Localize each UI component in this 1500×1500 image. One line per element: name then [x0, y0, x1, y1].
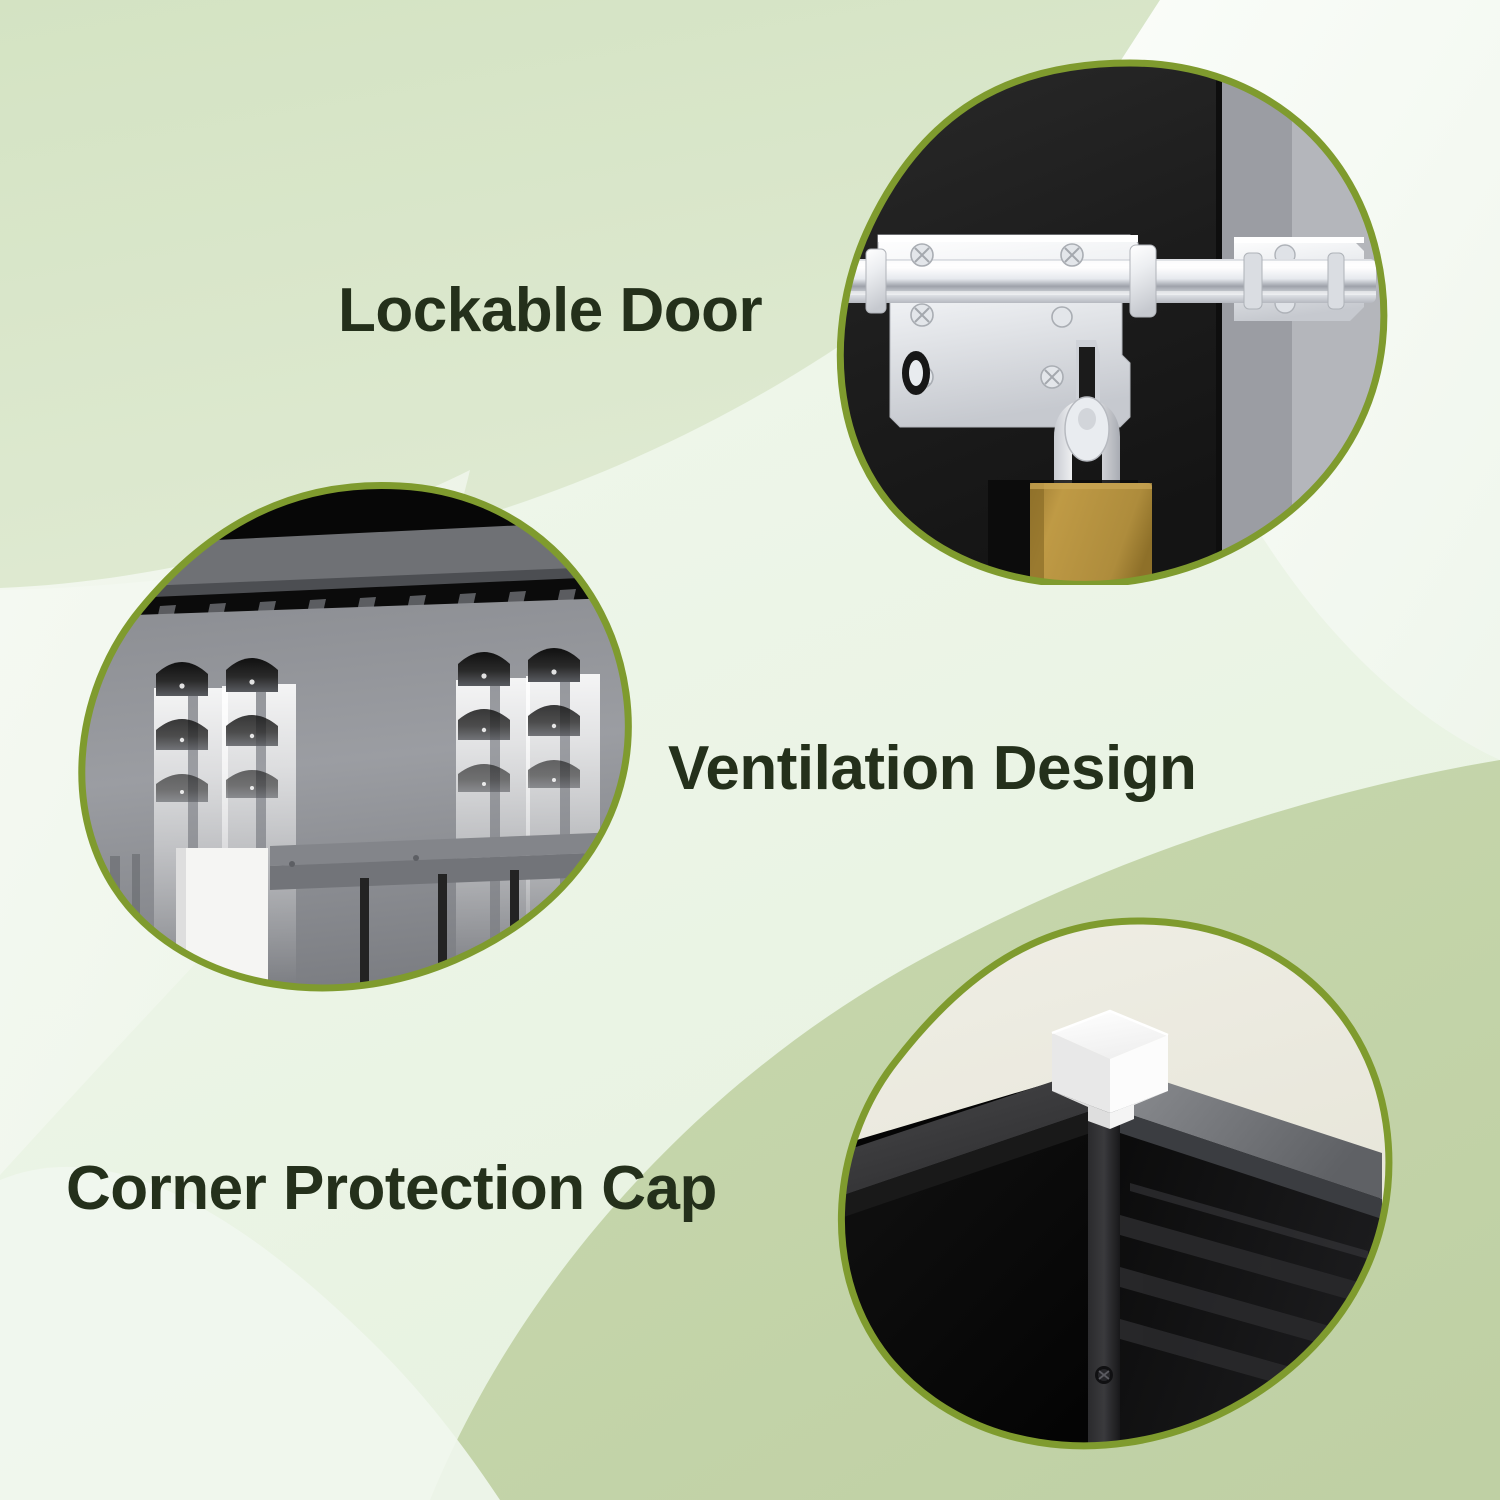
ventilation-photo	[70, 478, 640, 998]
padlock-body-icon	[1030, 483, 1152, 585]
feature-highlight-poster: Lockable Door Ventilation Design Corner …	[0, 0, 1500, 1500]
feature-image-ventilation-design	[70, 478, 640, 998]
feature-image-lockable-door	[830, 55, 1390, 585]
lockable-door-photo	[830, 55, 1390, 585]
feature-image-corner-protection-cap	[820, 915, 1400, 1460]
feature-label-ventilation-design: Ventilation Design	[668, 738, 1196, 800]
feature-label-corner-protection-cap: Corner Protection Cap	[66, 1158, 717, 1220]
feature-label-lockable-door: Lockable Door	[338, 280, 762, 342]
